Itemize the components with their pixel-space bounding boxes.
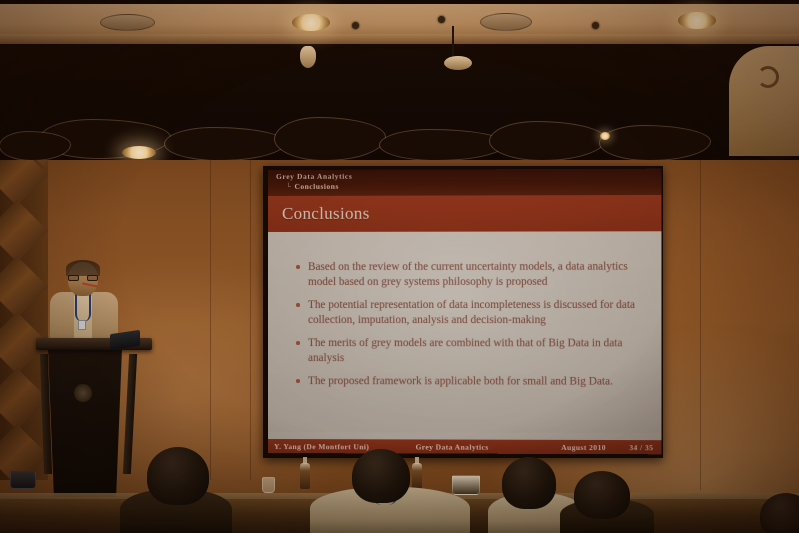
ceiling-sprinkler [438, 16, 445, 23]
ceiling-panel-cutout [275, 118, 385, 160]
footer-date: August 2010 [519, 442, 606, 451]
nav-subsection-title[interactable]: Conclusions [276, 181, 661, 191]
ceiling-panel-cutout [490, 122, 605, 160]
photo-scene: Grey Data Analytics Conclusions Conclusi… [0, 0, 799, 533]
slide-body: Based on the review of the current uncer… [268, 231, 661, 433]
water-bottle [412, 463, 422, 489]
drinking-glass [452, 475, 480, 495]
audience-member-center-head [352, 449, 410, 503]
ceiling-right-return [729, 46, 799, 156]
ceiling-panel-cutout [380, 130, 505, 160]
slide-navigation-bar: Grey Data Analytics Conclusions [268, 169, 661, 196]
ceiling-panel-cutout [165, 128, 285, 160]
lectern-front-panel [48, 349, 122, 497]
ceiling-sprinkler [352, 22, 359, 29]
glasses-icon [68, 275, 98, 281]
equipment-box [10, 471, 36, 489]
nav-section-title[interactable]: Grey Data Analytics [276, 171, 661, 181]
list-item: The potential representation of data inc… [294, 298, 639, 327]
ceiling [0, 0, 799, 160]
audience-member-right-head [502, 457, 556, 509]
projection-screen[interactable]: Grey Data Analytics Conclusions Conclusi… [268, 169, 661, 455]
lectern-logo [74, 384, 92, 402]
slide-title-bar: Conclusions [268, 195, 661, 232]
drinking-glass [262, 477, 275, 493]
lectern-leg [123, 354, 137, 474]
presenter-name-badge [78, 320, 86, 330]
footer-page-number: 34 / 35 [606, 443, 662, 452]
ceiling-light-fixture [300, 46, 316, 68]
list-item: The proposed framework is applicable bot… [294, 374, 639, 389]
ceiling-vent [480, 13, 532, 31]
wall-mount-hook-icon [757, 66, 779, 88]
ceiling-vent [100, 14, 155, 31]
slide-title: Conclusions [282, 204, 370, 224]
ceiling-downlight [678, 12, 716, 29]
list-item: Based on the review of the current uncer… [294, 260, 639, 289]
wall-seam [210, 150, 211, 480]
wall-seam [700, 160, 701, 490]
wall-seam [250, 150, 251, 480]
presenter-hair [66, 260, 100, 276]
bullet-list: Based on the review of the current uncer… [294, 260, 639, 390]
footer-author: Y. Yang (De Montfort Uni) [268, 442, 385, 451]
slide-footer: Y. Yang (De Montfort Uni) Grey Data Anal… [268, 439, 661, 454]
ceiling-downlight [122, 146, 156, 159]
audience-member-left-head [147, 447, 209, 505]
lectern [36, 338, 152, 500]
list-item: The merits of grey models are combined w… [294, 336, 639, 365]
ceiling-light-fixture [444, 56, 472, 70]
ceiling-panel-cutout [0, 132, 70, 160]
ceiling-sprinkler [592, 22, 599, 29]
ceiling-panel-cutout [600, 126, 710, 160]
audience-member-far-right-head [574, 471, 630, 519]
water-bottle [300, 463, 310, 489]
footer-subject: Grey Data Analytics [385, 442, 519, 451]
ceiling-downlight [600, 132, 610, 140]
presenter-lanyard [75, 294, 91, 322]
ceiling-downlight [292, 14, 330, 31]
